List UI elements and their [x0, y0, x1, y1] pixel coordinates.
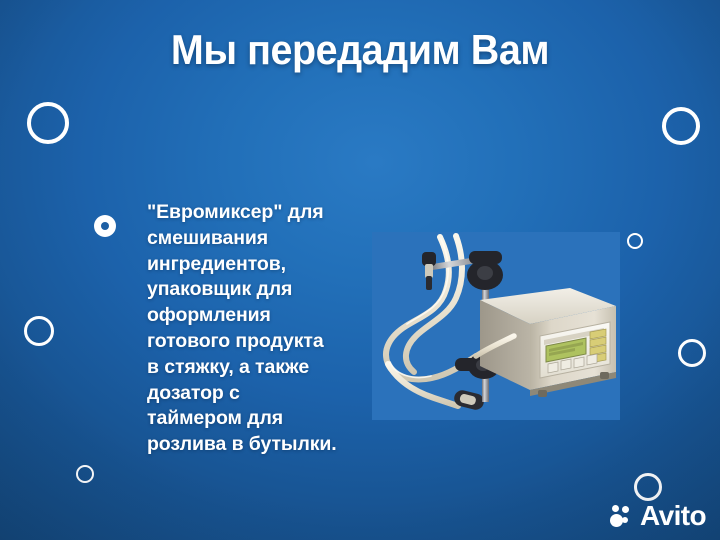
ring-left-lower-icon: [24, 316, 54, 346]
avito-watermark: Avito: [610, 502, 706, 530]
ring-bottom-left-icon: [76, 465, 94, 483]
ring-right-lower-icon: [678, 339, 706, 367]
description-text: "Евромиксер" для смешивания ингредиентов…: [147, 200, 379, 458]
machine-foot: [538, 390, 547, 397]
donut-mid-left-icon: [94, 215, 116, 237]
avito-wordmark: Avito: [640, 502, 706, 530]
description-line: упаковщик для: [147, 277, 379, 303]
promo-slide: Мы передадим Вам "Евромиксер" для смешив…: [0, 0, 720, 540]
machine-foot: [600, 372, 609, 379]
description-line: ингредиентов,: [147, 252, 379, 278]
description-line: оформления: [147, 303, 379, 329]
page-title: Мы передадим Вам: [22, 26, 699, 73]
description-line: смешивания: [147, 226, 379, 252]
ring-top-right-icon: [662, 107, 700, 145]
ring-top-left-icon: [27, 102, 69, 144]
description-line: дозатор с: [147, 381, 379, 407]
ring-mid-right-icon: [627, 233, 643, 249]
description-line: таймером для: [147, 406, 379, 432]
ring-bottom-right-icon: [634, 473, 662, 501]
description-line: готового продукта: [147, 329, 379, 355]
product-photo: [372, 232, 620, 420]
description-line: розлива в бутылки.: [147, 432, 379, 458]
description-line: "Евромиксер" для: [147, 200, 379, 226]
avito-dots-icon: [610, 505, 634, 527]
clamp-knob-upper: [467, 251, 503, 290]
description-line: в стяжку, а также: [147, 355, 379, 381]
